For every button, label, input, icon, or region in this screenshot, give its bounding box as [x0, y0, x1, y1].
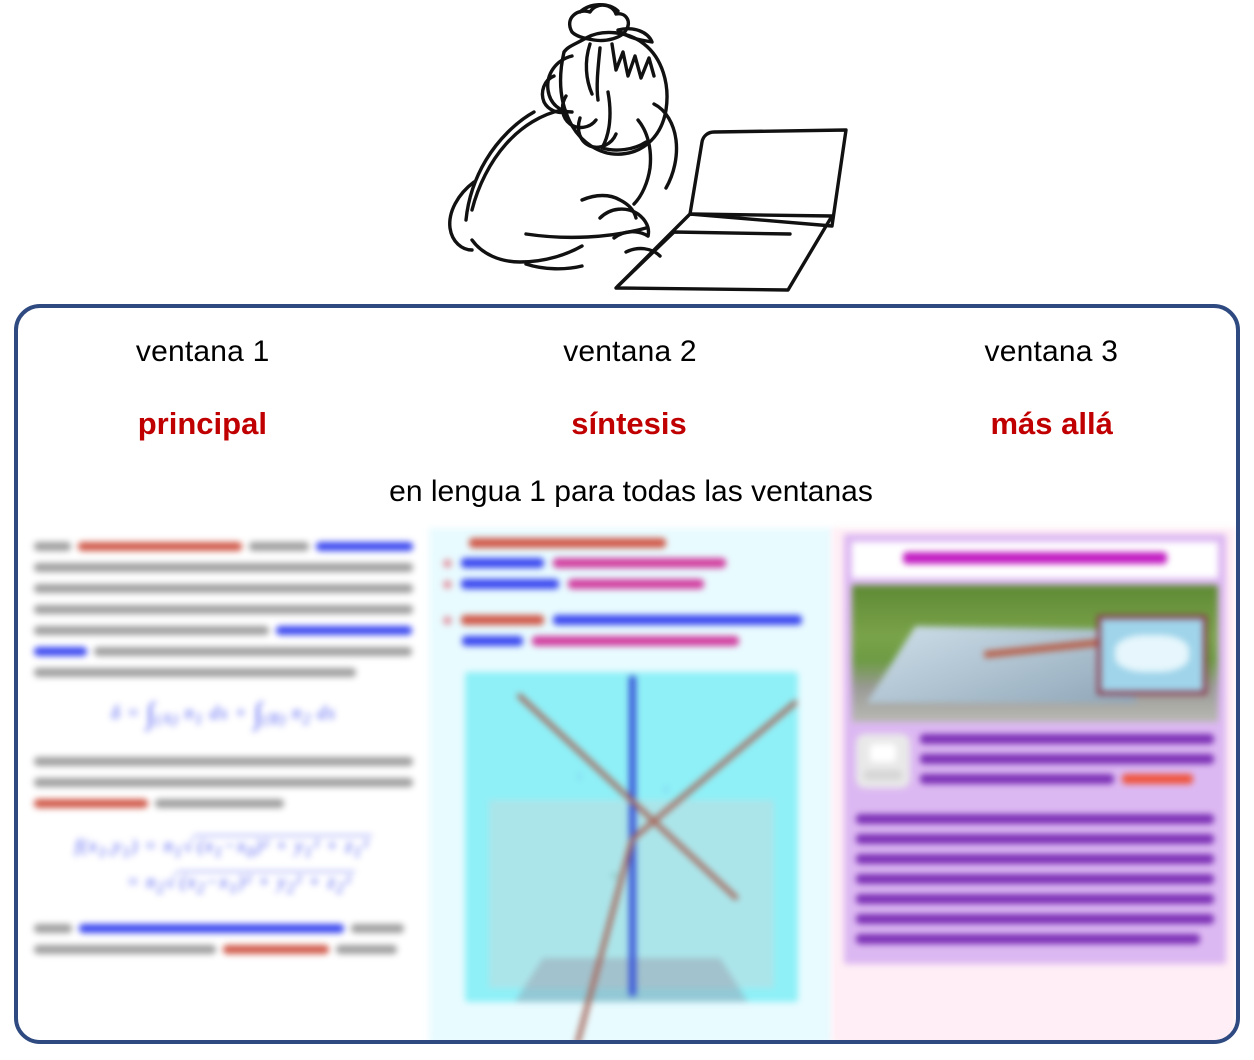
column-subheadings-row: principal síntesis más allá [18, 401, 1236, 449]
windscreen-photo [852, 585, 1218, 722]
panels-row: δ = ∫(A) n1 ds + ∫(B) n2 ds f(x1,y1) = n… [18, 528, 1236, 1044]
text-line [856, 894, 1214, 904]
bullet-item [443, 615, 820, 625]
text-line [34, 778, 413, 787]
panel-ventana-1[interactable]: δ = ∫(A) n1 ds + ∫(B) n2 ds f(x1,y1) = n… [18, 528, 429, 1044]
angle-label-r: r [665, 784, 669, 796]
text-line [856, 934, 1200, 944]
ventanas-card: ventana 1 ventana 2 ventana 3 principal … [14, 304, 1240, 1044]
bullet-item [443, 558, 820, 568]
points-badge [1122, 774, 1193, 784]
text-line [34, 924, 413, 933]
medium-label: n [612, 870, 618, 882]
exercise-title-bar [852, 542, 1218, 578]
exercise-body [852, 800, 1218, 944]
refraction-diagram: i r n [465, 672, 798, 1002]
slide-title [443, 538, 820, 548]
bullet-dot-icon [443, 559, 452, 568]
column-subheading-3: más allá [821, 401, 1236, 449]
text-line [34, 757, 413, 766]
column-heading-2: ventana 2 [445, 330, 820, 376]
text-line [920, 774, 1114, 784]
column-headings-row: ventana 1 ventana 2 ventana 3 [18, 330, 1236, 376]
text-line [920, 734, 1214, 744]
text-line [34, 626, 413, 635]
exercise-title-text [903, 552, 1168, 564]
text-line [34, 945, 413, 954]
text-line [856, 874, 1214, 884]
text-line [856, 914, 1214, 924]
bullet-item [443, 579, 820, 589]
angle-label-i: i [578, 771, 580, 783]
panel-ventana-2[interactable]: i r n [429, 528, 832, 1044]
panel-2-content: i r n [429, 528, 832, 1002]
text-line [34, 542, 413, 551]
panel-ventana-3[interactable] [832, 528, 1236, 1044]
display-screen [1097, 615, 1207, 694]
question-text [920, 734, 1214, 794]
card-caption: en lengua 1 para todas las ventanas [18, 472, 1236, 512]
column-subheading-2: síntesis [445, 401, 822, 449]
text-line [856, 834, 1214, 844]
illustration-area [0, 0, 1254, 300]
student-at-laptop-icon [422, 0, 852, 296]
distance-formula-1: f(x1,y1) = n1√(x1−x0)² + y1² + z1² [34, 836, 413, 862]
panel-1-content: δ = ∫(A) n1 ds + ∫(B) n2 ds f(x1,y1) = n… [18, 528, 429, 954]
text-line [920, 754, 1214, 764]
optical-path-formula: δ = ∫(A) n1 ds + ∫(B) n2 ds [34, 697, 413, 731]
bullet-item [443, 636, 820, 646]
text-line [34, 647, 413, 656]
text-line [34, 584, 413, 593]
text-line [34, 563, 413, 572]
question-block [852, 722, 1218, 800]
column-heading-3: ventana 3 [821, 330, 1236, 376]
question-icon [856, 734, 910, 788]
bullet-dot-icon [443, 580, 452, 589]
panel-3-content [844, 534, 1226, 964]
text-line [34, 605, 413, 614]
column-heading-1: ventana 1 [18, 330, 445, 376]
column-subheading-1: principal [18, 401, 445, 449]
distance-formula-2: = n2√(x2−x1)² + y2² + z2² [68, 872, 413, 898]
text-line [856, 814, 1214, 824]
text-line [34, 668, 356, 677]
bullet-dot-icon [443, 616, 452, 625]
text-line [34, 799, 413, 808]
text-line [856, 854, 1214, 864]
